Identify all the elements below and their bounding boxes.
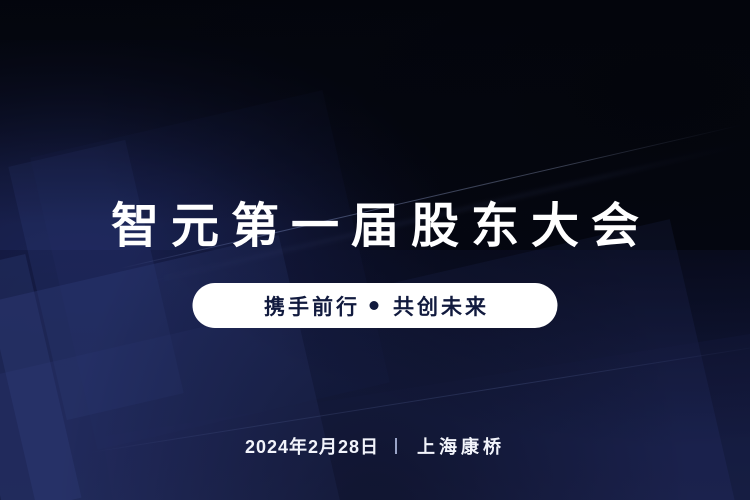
bullet-dot-icon: [369, 301, 378, 310]
subtitle-pill: 携手前行 共创未来: [193, 283, 558, 328]
footer-date: 2024年2月28日: [245, 433, 379, 459]
poster-content: 智元第一届股东大会 携手前行 共创未来 2024年2月28日 上海康桥: [0, 0, 750, 500]
poster-footer: 2024年2月28日 上海康桥: [0, 433, 750, 459]
event-poster: 智元第一届股东大会 携手前行 共创未来 2024年2月28日 上海康桥: [0, 0, 750, 500]
subtitle-pill-text: 携手前行 共创未来: [261, 291, 489, 321]
footer-separator-icon: [395, 438, 397, 454]
poster-title: 智元第一届股东大会: [0, 198, 750, 256]
subtitle-right-text: 共创未来: [390, 291, 489, 321]
subtitle-left-text: 携手前行: [261, 291, 360, 321]
footer-location: 上海康桥: [413, 433, 505, 459]
